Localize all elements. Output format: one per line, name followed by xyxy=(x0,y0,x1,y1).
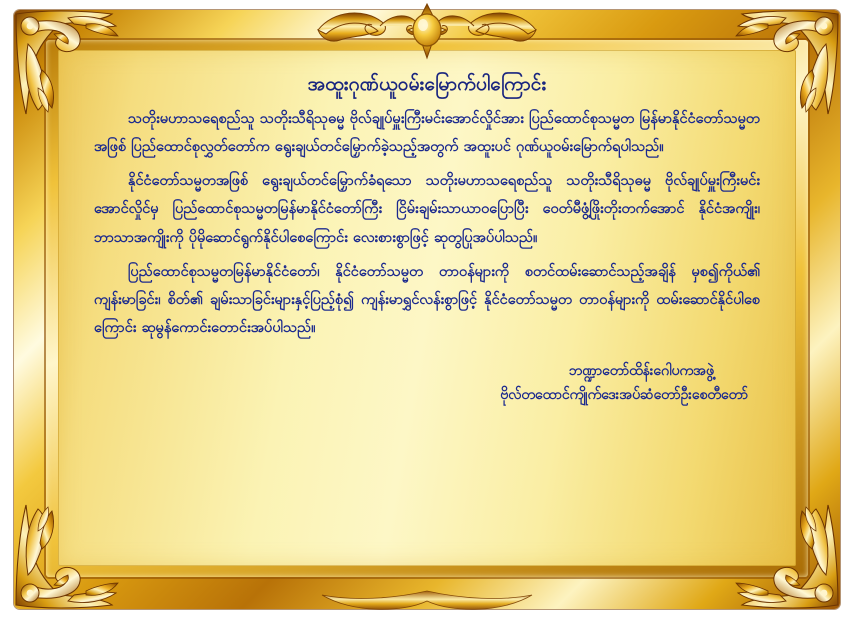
signature-organization: ဘဏ္ဍာတော်ထိန်းဂေါပကအဖွဲ့ xyxy=(88,359,748,384)
paragraph-1: သတိုးမဟာသရေစည်သူ သတိုးသီရိသုဓမ္မ ဗိုလ်ချ… xyxy=(88,105,766,162)
paragraph-3: ပြည်ထောင်စုသမ္မတမြန်မာနိုင်ငံတော်၊ နိုင်… xyxy=(88,258,766,343)
signature-block: ဘဏ္ဍာတော်ထိန်းဂေါပကအဖွဲ့ ဗိုလ်တထောင်ကျို… xyxy=(88,359,766,408)
paragraph-2: နိုင်ငံတော်သမ္မတအဖြစ် ရွေးချယ်တင်မြှောက်… xyxy=(88,167,766,252)
certificate-document: အထူးဂုဏ်ယူဝမ်းမြောက်ပါကြောင်း သတိုးမဟာသရ… xyxy=(0,0,854,621)
certificate-content: အထူးဂုဏ်ယူဝမ်းမြောက်ပါကြောင်း သတိုးမဟာသရ… xyxy=(58,50,796,566)
certificate-panel: အထူးဂုဏ်ယူဝမ်းမြောက်ပါကြောင်း သတိုးမဟာသရ… xyxy=(58,50,796,566)
signature-pagoda: ဗိုလ်တထောင်ကျိုက်ဒေးအပ်ဆံတော်ဦးစေတီတော် xyxy=(88,383,748,408)
page-title: အထူးဂုဏ်ယူဝမ်းမြောက်ပါကြောင်း xyxy=(88,70,766,99)
